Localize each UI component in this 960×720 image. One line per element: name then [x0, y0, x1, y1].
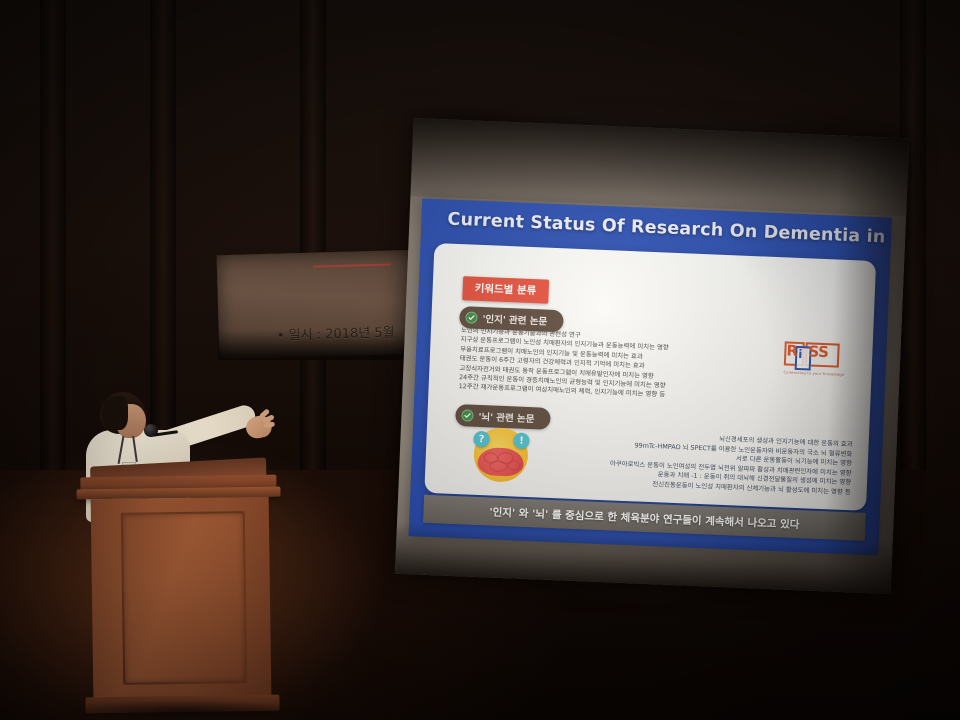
podium-body — [91, 497, 272, 699]
keyword-badge: 키워드별 분류 — [462, 276, 549, 303]
section-pill-label: '인지' 관련 논문 — [482, 311, 547, 328]
brain-thinking-icon: ? ! — [469, 421, 533, 485]
podium — [84, 475, 277, 720]
riss-letter-r: R — [786, 344, 798, 359]
curtain-fold — [40, 0, 66, 470]
presentation-slide: Current Status Of Research On Dementia i… — [408, 198, 891, 555]
banner-dots: · · · — [335, 258, 353, 264]
banner-rule — [313, 263, 391, 267]
speaker-finger — [263, 421, 275, 428]
brain-paper-list: 뇌신경세포의 생성과 인지기능에 대한 운동의 효과 99mTc-HMPAO 뇌… — [546, 428, 853, 498]
riss-letter-ss: SS — [808, 344, 829, 360]
auditorium-scene: · · · • 일시 : 2018년 5월 준비 Current Status … — [0, 0, 960, 720]
microphone-icon — [144, 424, 158, 437]
brain-fold — [489, 460, 507, 472]
podium-panel — [121, 511, 247, 685]
check-circle-icon — [465, 311, 477, 323]
slide-content-card: 키워드별 분류 '인지' 관련 논문 노인의 인지기능과 운동기술과의 관련성 … — [424, 243, 876, 511]
cognition-paper-list: 노인의 인지기능과 운동기술과의 관련성 연구 지구성 운동프로그램이 노인성 … — [458, 326, 760, 404]
slide-title: Current Status Of Research On Dementia i… — [447, 210, 881, 248]
screen-surface: Current Status Of Research On Dementia i… — [395, 118, 909, 594]
check-circle-icon — [461, 409, 473, 421]
projection-screen: Current Status Of Research On Dementia i… — [395, 118, 909, 598]
speaker-hair-front — [102, 396, 128, 430]
riss-letter-i: i — [798, 347, 803, 362]
podium-shadow — [60, 700, 310, 720]
curtain-fold — [300, 0, 326, 470]
exclamation-bubble-icon: ! — [513, 432, 530, 449]
brain-fold — [507, 460, 520, 471]
